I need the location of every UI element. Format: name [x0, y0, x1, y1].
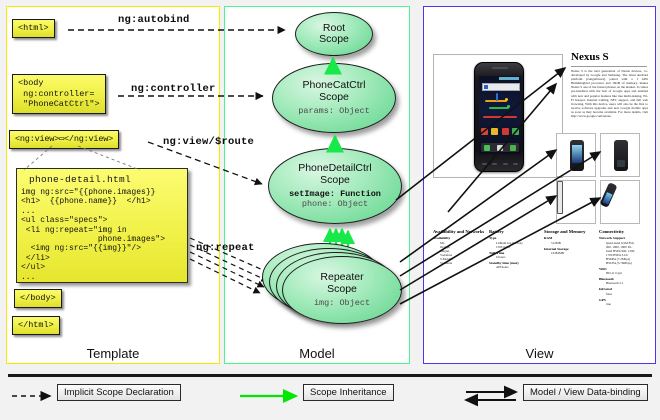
- phone-hero-image-frame[interactable]: [433, 54, 563, 178]
- phone-button-search: [513, 163, 518, 165]
- phone-search-widget: [482, 83, 520, 91]
- code-chip-html[interactable]: <html>: [12, 19, 55, 38]
- code-chip-end-html[interactable]: </html>: [12, 316, 60, 335]
- phone-button-back: [482, 163, 487, 165]
- spec-value: Bluetooth 2.1: [606, 281, 649, 285]
- legend-item-scope-inheritance: Scope Inheritance: [303, 384, 394, 401]
- phone-detail-rule: [571, 66, 647, 67]
- phone-app-icon-2: [491, 128, 498, 135]
- scope-repeater[interactable]: Repeater Scope img: Object: [282, 256, 402, 324]
- spec-value: 802.11 b/g/n: [606, 271, 649, 275]
- legend-item-implicit-scope: Implicit Scope Declaration: [57, 384, 181, 401]
- spec-value: 16384MB: [551, 251, 598, 255]
- diagram-canvas: Template Model View: [0, 0, 660, 420]
- phone-detail-title: Nexus S: [571, 51, 609, 63]
- thumbnail-phone-back: [614, 140, 628, 171]
- spec-heading: Connectivity: [599, 229, 649, 234]
- phone-speaker: [492, 67, 508, 69]
- phone-wallpaper-line-4: [496, 93, 498, 101]
- label-ng-repeat: ng:repeat: [196, 242, 255, 254]
- phone-wallpaper-line-3: [483, 116, 517, 118]
- spec-column-battery: Battery Type Lithium Ion (Li-Ion) 1500 m…: [489, 229, 541, 269]
- spec-column-storage: Storage and Memory RAM 512MB Internal St…: [544, 229, 598, 255]
- phone-detail-description: Nexus S is the next generation of Nexus …: [571, 69, 648, 118]
- phone-app-icon-4: [512, 128, 519, 135]
- thumbnail-camera: [617, 160, 625, 167]
- phone-dock-icon-2: [497, 145, 503, 151]
- phone-dock-icon-1: [484, 145, 490, 151]
- phone-thumbnail-3[interactable]: [556, 180, 596, 224]
- phone-screen: [479, 76, 521, 154]
- scope-detail-line2: Scope: [320, 175, 350, 187]
- spec-heading: Availability and Networks: [433, 229, 485, 234]
- thumbnail-angled-screen: [602, 192, 612, 204]
- view-rendered-page: Nexus S Nexus S is the next generation o…: [428, 22, 650, 332]
- phone-app-icons: [481, 128, 519, 140]
- phone-wallpaper-dot-1: [505, 98, 508, 101]
- panel-view-label: View: [424, 346, 655, 361]
- phone-wallpaper-dot-2: [507, 105, 510, 108]
- phone-dock-icon-3: [510, 145, 516, 151]
- phone-button-home: [503, 163, 508, 165]
- spec-heading: Storage and Memory: [544, 229, 598, 234]
- template-note-phone-detail[interactable]: phone-detail.html img ng:src="{{phone.im…: [16, 168, 188, 283]
- phone-thumbnail-1[interactable]: [556, 133, 596, 177]
- thumbnail-phone-side: [557, 181, 563, 214]
- label-ng-view-route: ng:view/$route: [163, 136, 254, 148]
- code-chip-body[interactable]: <body ng:controller= "PhoneCatCtrl">: [12, 74, 106, 114]
- scope-rep-line2: Scope: [327, 284, 357, 296]
- phone-thumbnail-4[interactable]: [600, 180, 640, 224]
- spec-value: 428 hours: [496, 265, 541, 269]
- spec-value: 6 hours: [496, 255, 541, 259]
- phone-statusbar: [499, 77, 519, 80]
- scope-cat-line1: PhoneCatCtrl: [302, 80, 365, 92]
- code-chip-ngview[interactable]: <ng:view>▭</ng:view>: [9, 130, 119, 149]
- legend-divider: [8, 374, 652, 377]
- thumbnail-phone-angled: [601, 181, 621, 210]
- phone-thumbnail-2[interactable]: [600, 133, 640, 177]
- scope-detail-prop-setimage: setImage: Function: [289, 189, 381, 199]
- spec-value: false: [606, 292, 649, 296]
- scope-rep-line1: Repeater: [320, 272, 363, 284]
- panel-model-label: Model: [225, 346, 409, 361]
- thumbnail-screen: [572, 145, 582, 163]
- scope-cat-line2: Scope: [319, 92, 349, 104]
- scope-cat-prop-params: params: Object: [298, 106, 369, 116]
- phone-dock: [481, 143, 519, 152]
- phone-button-menu: [492, 163, 497, 165]
- note-title: phone-detail.html: [29, 174, 183, 185]
- code-chip-end-body[interactable]: </body>: [14, 289, 62, 308]
- note-code: img ng:src="{{phone.images}} <h1> {{phon…: [21, 188, 183, 282]
- scope-rep-prop-img: img: Object: [314, 298, 370, 308]
- phone-app-icon-3: [502, 128, 509, 135]
- phone-spec-table: Availability and Networks Availability M…: [431, 229, 647, 325]
- spec-value: HSUPA (5.76Mbps): [606, 261, 649, 265]
- scope-root[interactable]: Root Scope: [295, 12, 373, 56]
- label-ng-controller: ng:controller: [131, 83, 216, 95]
- thumbnail-angled-body: [600, 182, 618, 208]
- scope-root-line2: Scope: [319, 34, 349, 46]
- spec-column-availability: Availability and Networks Availability M…: [433, 229, 485, 265]
- scope-detail-prop-phone: phone: Object: [302, 199, 368, 209]
- label-ng-autobind: ng:autobind: [118, 14, 190, 26]
- scope-phonecatctrl[interactable]: PhoneCatCtrl Scope params: Object: [272, 63, 396, 133]
- spec-heading: Battery: [489, 229, 541, 234]
- scope-phonedetailctrl[interactable]: PhoneDetailCtrl Scope setImage: Function…: [268, 148, 402, 224]
- legend-item-data-binding: Model / View Data-binding: [523, 384, 648, 401]
- thumbnail-phone-front: [570, 140, 584, 171]
- spec-column-connectivity: Connectivity Network Support Quad-band G…: [599, 229, 649, 306]
- spec-value: Vodafone: [440, 261, 485, 265]
- phone-google-icon: [484, 85, 488, 89]
- spec-value: 512MB: [551, 241, 598, 245]
- spec-value: true: [606, 302, 649, 306]
- phone-wallpaper-line-2: [489, 107, 509, 109]
- phone-hardware-buttons: [479, 161, 521, 167]
- phone-app-icon-1: [481, 128, 488, 135]
- spec-value: 1500 mAh: [496, 245, 541, 249]
- panel-template-label: Template: [7, 346, 219, 361]
- scope-detail-line1: PhoneDetailCtrl: [298, 163, 372, 175]
- phone-device-illustration: [474, 62, 524, 172]
